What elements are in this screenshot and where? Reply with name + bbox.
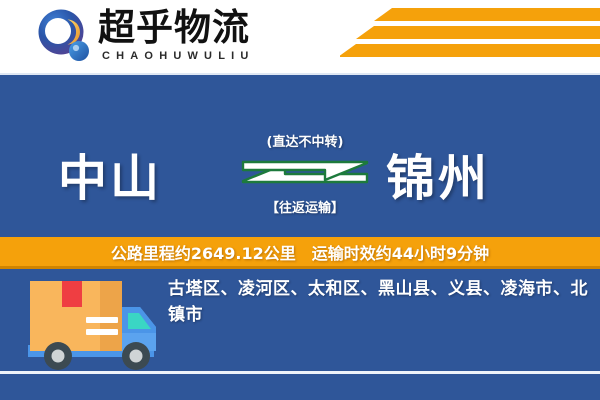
- ground-line: [0, 371, 600, 374]
- poster-header: 超乎物流 CHAOHUWULIU: [0, 0, 600, 73]
- route-note-roundtrip: 【往返运输】: [240, 197, 370, 216]
- brand-name-chinese: 超乎物流: [98, 6, 250, 50]
- double-headed-arrow-icon: [235, 153, 375, 191]
- poster-body: 中山 (直达不中转) 【往返运输】 锦州 公路里程约2649.12公里 运输时效…: [0, 73, 600, 400]
- brand-name-pinyin: CHAOHUWULIU: [102, 50, 255, 62]
- header-divider: [0, 73, 600, 75]
- destination-city: 锦州: [386, 139, 490, 210]
- distance-duration-text: 公路里程约2649.12公里 运输时效约44小时9分钟: [111, 240, 489, 264]
- route-arrow-group: (直达不中转) 【往返运输】: [240, 131, 370, 226]
- route-row: 中山 (直达不中转) 【往返运输】 锦州: [0, 93, 600, 243]
- distance-duration-bar: 公路里程约2649.12公里 运输时效约44小时9分钟: [0, 237, 600, 269]
- destination-district-list: 古塔区、凌河区、太和区、黑山县、义县、凌海市、北镇市: [168, 276, 592, 328]
- orange-speed-stripes-icon: [340, 8, 600, 66]
- route-note-direct: (直达不中转): [240, 131, 370, 150]
- origin-city: 中山: [58, 139, 162, 210]
- chaohu-logistics-q-logo-icon: [36, 8, 94, 66]
- brand-logo-group: 超乎物流 CHAOHUWULIU: [36, 6, 336, 68]
- logistics-route-poster: 超乎物流 CHAOHUWULIU 中山 (直达不中转) 【往返运输】 锦州: [0, 0, 600, 400]
- delivery-truck-icon: [22, 273, 172, 378]
